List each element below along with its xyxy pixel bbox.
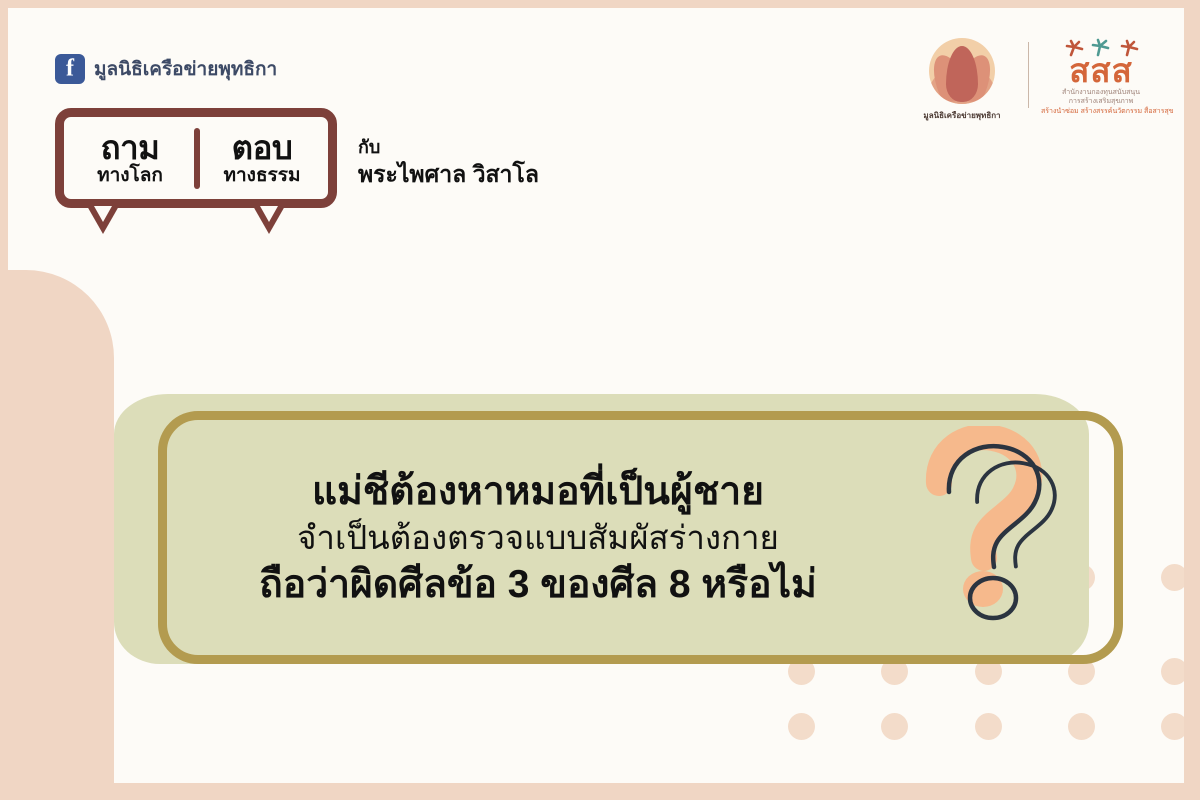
bubble-left-subtitle: ทางโลก xyxy=(97,166,163,185)
organization-logos: มูลนิธิเครือข่ายพุทธิกา xyxy=(908,36,1176,141)
question-line-1: แม่ชีต้องหาหมอที่เป็นผู้ชาย xyxy=(312,469,764,515)
question-line-3: ถือว่าผิดศีลข้อ 3 ของศีล 8 หรือไม่ xyxy=(259,562,817,608)
bubble-left-column: ถาม ทางโลก xyxy=(64,131,196,185)
speaker-credit: กับ พระไพศาล วิสาโล xyxy=(358,135,539,190)
question-mark-icon xyxy=(913,426,1073,626)
bubble-left-title: ถาม xyxy=(101,131,160,165)
dot xyxy=(1161,564,1184,591)
dot xyxy=(1161,658,1184,685)
dot xyxy=(1068,713,1095,740)
lotus-petal-center xyxy=(946,46,978,102)
dot xyxy=(1161,713,1184,740)
speech-bubble: ถาม ทางโลก ตอบ ทางธรรม xyxy=(55,108,345,240)
dot xyxy=(788,713,815,740)
lotus-icon xyxy=(929,38,995,104)
logo-separator xyxy=(1028,42,1029,108)
bubble-right-title: ตอบ xyxy=(232,131,293,165)
speaker-name: พระไพศาล วิสาโล xyxy=(358,159,539,190)
thaihealth-people-icon xyxy=(1041,36,1161,56)
thaihealth-people-svg xyxy=(1041,36,1161,58)
thaihealth-line1: สำนักงานกองทุนสนับสนุน xyxy=(1041,89,1161,98)
question-card-text: แม่ชีต้องหาหมอที่เป็นผู้ชาย จำเป็นต้องตร… xyxy=(158,426,918,651)
peach-background-shape xyxy=(8,270,114,783)
thaihealth-logo: สสส สำนักงานกองทุนสนับสนุน การสร้างเสริม… xyxy=(1041,36,1161,116)
facebook-icon xyxy=(55,54,85,84)
facebook-page-name: มูลนิธิเครือข่ายพุทธิกา xyxy=(94,54,277,84)
dot xyxy=(881,713,908,740)
poster-root: มูลนิธิเครือข่ายพุทธิกา ถาม ทางโลก ตอบ ท… xyxy=(0,0,1200,800)
bubble-tail-left-inner xyxy=(94,206,112,222)
bubble-divider xyxy=(194,128,200,189)
bubble-right-column: ตอบ ทางธรรม xyxy=(196,131,328,185)
bubble-tail-right-inner xyxy=(260,206,278,222)
bubble-right-subtitle: ทางธรรม xyxy=(223,166,300,185)
question-mark-svg xyxy=(913,426,1073,626)
question-line-2: จำเป็นต้องตรวจแบบสัมผัสร่างกาย xyxy=(297,519,779,558)
buddhika-logo: มูลนิธิเครือข่ายพุทธิกา xyxy=(908,36,1016,122)
thaihealth-wordmark: สสส xyxy=(1041,56,1161,89)
poster-canvas: มูลนิธิเครือข่ายพุทธิกา ถาม ทางโลก ตอบ ท… xyxy=(8,8,1184,783)
thaihealth-line2: การสร้างเสริมสุขภาพ xyxy=(1041,98,1161,107)
facebook-page-credit: มูลนิธิเครือข่ายพุทธิกา xyxy=(55,54,277,84)
dot xyxy=(975,713,1002,740)
buddhika-logo-caption: มูลนิธิเครือข่ายพุทธิกา xyxy=(908,109,1016,122)
thaihealth-line3: สร้างนำซ่อม สร้างสรรค์นวัตกรรม สื่อสารสุ… xyxy=(1041,108,1161,117)
speaker-prefix: กับ xyxy=(358,135,539,159)
